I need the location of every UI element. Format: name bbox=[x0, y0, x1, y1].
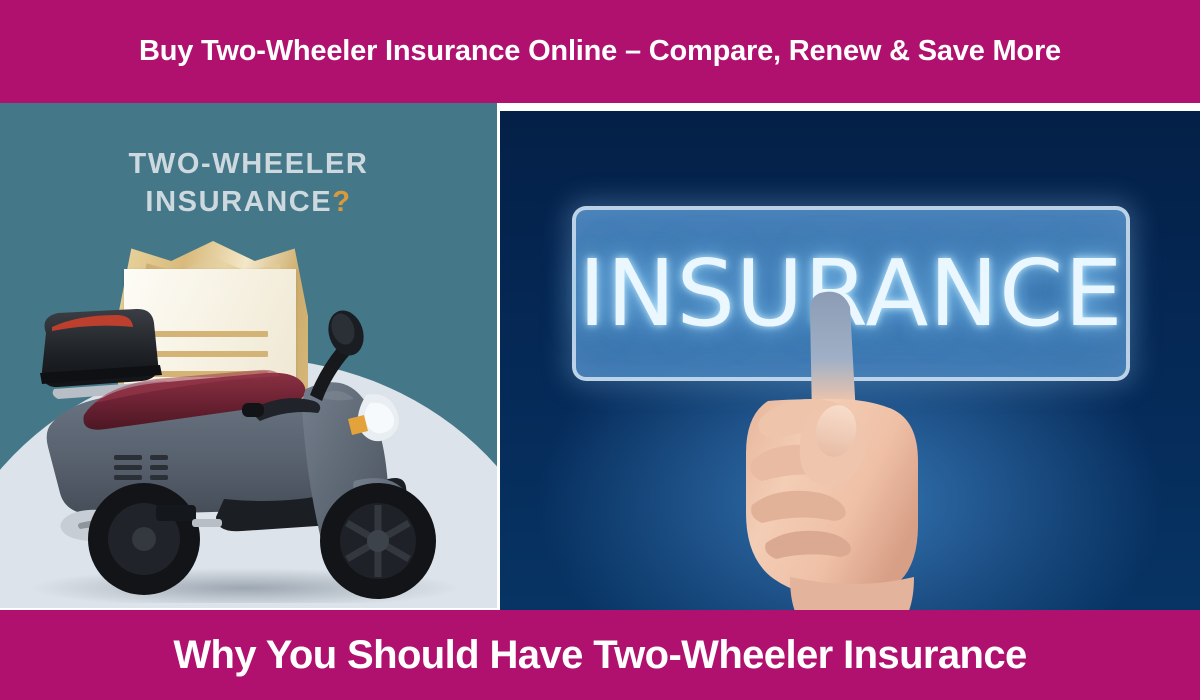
left-image-headline: TWO-WHEELER INSURANCE? bbox=[0, 145, 497, 221]
insurance-infographic-page: Buy Two-Wheeler Insurance Online – Compa… bbox=[0, 0, 1200, 700]
left-image-panel: TWO-WHEELER INSURANCE? bbox=[0, 103, 497, 608]
image-panels: TWO-WHEELER INSURANCE? bbox=[0, 103, 1200, 610]
headline-line-2: INSURANCE bbox=[145, 186, 332, 218]
section-title: Why You Should Have Two-Wheeler Insuranc… bbox=[173, 633, 1026, 678]
bottom-banner: Why You Should Have Two-Wheeler Insuranc… bbox=[0, 610, 1200, 700]
headline-line-1: TWO-WHEELER bbox=[129, 148, 369, 180]
page-title: Buy Two-Wheeler Insurance Online – Compa… bbox=[139, 35, 1061, 68]
scooter-illustration bbox=[10, 303, 480, 603]
top-banner: Buy Two-Wheeler Insurance Online – Compa… bbox=[0, 0, 1200, 103]
right-image-panel: INSURANCE bbox=[500, 111, 1200, 610]
question-mark-icon: ? bbox=[332, 186, 351, 218]
pointing-hand-illustration bbox=[708, 291, 1048, 610]
